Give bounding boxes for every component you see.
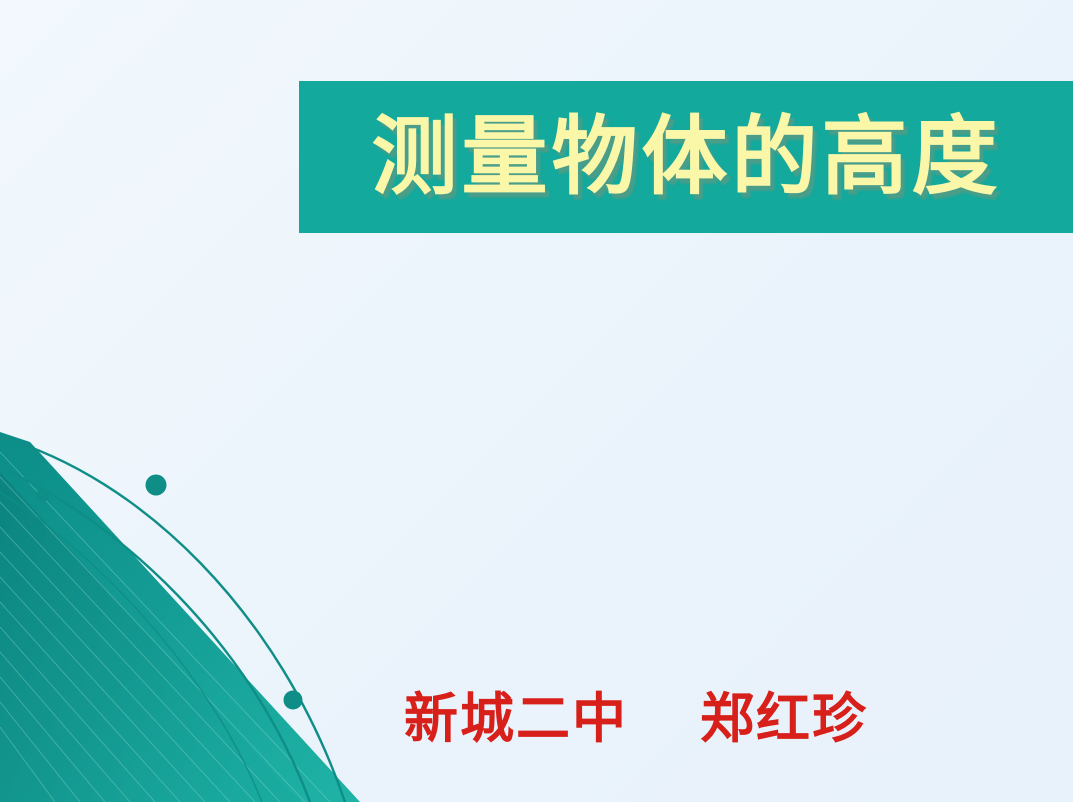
author-line: 新城二中郑红珍: [404, 686, 1044, 751]
page-title: 测量物体的高度: [372, 114, 1002, 200]
author-school: 新城二中: [404, 686, 628, 750]
author-name: 郑红珍: [700, 686, 868, 750]
title-band: 测量物体的高度: [299, 81, 1073, 233]
corner-swoosh-decoration: [0, 432, 420, 802]
slide-canvas: 测量物体的高度 新城二中郑红珍: [0, 0, 1073, 802]
